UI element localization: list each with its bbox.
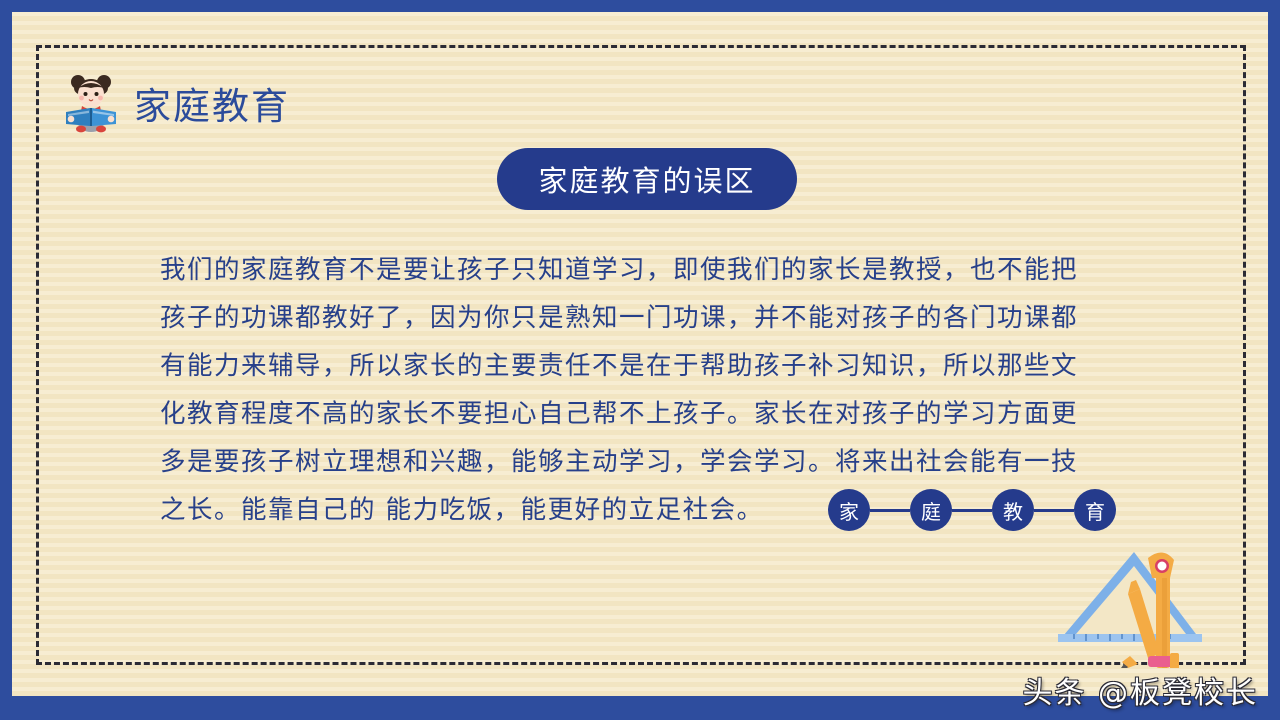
- body-line: 多是要孩子树立理想和兴趣，能够主动学习，学会学习。将来出社会能有一技: [160, 438, 1170, 486]
- chain-connector: [952, 509, 992, 512]
- chain-circle: 庭: [910, 489, 952, 531]
- chain-circle: 家: [828, 489, 870, 531]
- body-line: 孩子的功课都教好了，因为你只是熟知一门功课，并不能对孩子的各门功课都: [160, 294, 1170, 342]
- keyword-circle-chain: 家 庭 教 育: [828, 489, 1116, 531]
- stationery-decoration: [1052, 538, 1222, 668]
- body-line: 有能力来辅导，所以家长的主要责任不是在于帮助孩子补习知识，所以那些文: [160, 342, 1170, 390]
- chain-connector: [870, 509, 910, 512]
- chain-circle: 育: [1074, 489, 1116, 531]
- body-line: 化教育程度不高的家长不要担心自己帮不上孩子。家长在对孩子的学习方面更: [160, 390, 1170, 438]
- body-line: 我们的家庭教育不是要让孩子只知道学习，即使我们的家长是教授，也不能把: [160, 246, 1170, 294]
- page-title: 家庭教育: [134, 76, 290, 130]
- watermark: 头条 @板凳校长: [1022, 668, 1258, 712]
- section-title-badge: 家庭教育的误区: [497, 148, 797, 210]
- chain-connector: [1034, 509, 1074, 512]
- slide-header: 家庭教育: [62, 72, 290, 134]
- section-title-label: 家庭教育的误区: [538, 158, 755, 200]
- girl-reading-book-icon: [62, 72, 120, 134]
- chain-circle: 教: [992, 489, 1034, 531]
- presentation-slide: 家庭教育 家庭教育的误区 我们的家庭教育不是要让孩子只知道学习，即使我们的家长是…: [0, 0, 1280, 720]
